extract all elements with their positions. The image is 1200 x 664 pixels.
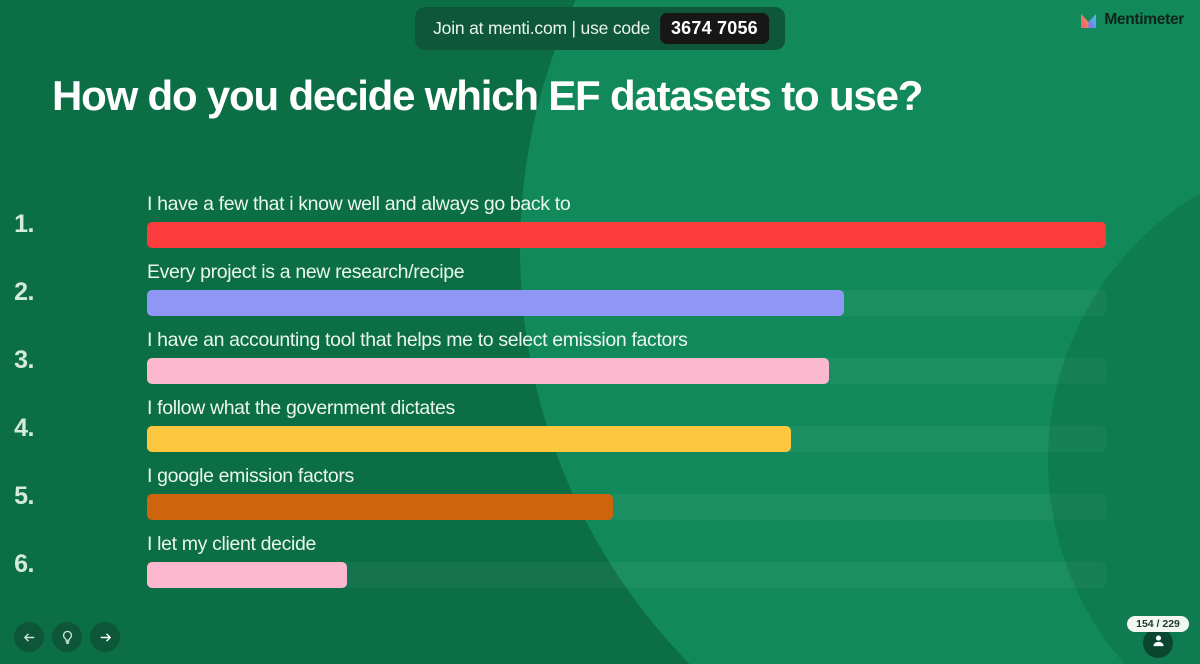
presentation-slide: Join at menti.com | use code 3674 7056	[0, 0, 1200, 664]
slide-navigation-controls	[14, 622, 120, 652]
answer-label: I let my client decide	[147, 533, 316, 556]
bar-track	[147, 494, 1106, 520]
brand-name: Mentimeter	[1104, 11, 1184, 29]
arrow-right-icon	[98, 630, 113, 645]
rank-number: 4.	[0, 414, 34, 443]
poll-results-list: 1. I have a few that i know well and alw…	[0, 186, 1200, 594]
join-code: 3674 7056	[660, 13, 769, 44]
answer-label: I have an accounting tool that helps me …	[147, 329, 688, 352]
result-row: 2. Every project is a new research/recip…	[0, 254, 1200, 322]
bar-fill	[147, 426, 791, 452]
join-instruction-text: Join at menti.com | use code	[433, 18, 650, 39]
answer-label: I follow what the government dictates	[147, 397, 455, 420]
rank-number: 2.	[0, 278, 34, 307]
ideas-button[interactable]	[52, 622, 82, 652]
bar-fill	[147, 222, 1106, 248]
participant-count-badge: 154 / 229	[1127, 616, 1189, 632]
rank-number: 3.	[0, 346, 34, 375]
result-row: 4. I follow what the government dictates	[0, 390, 1200, 458]
result-row: 5. I google emission factors	[0, 458, 1200, 526]
rank-number: 6.	[0, 550, 34, 579]
result-row: 3. I have an accounting tool that helps …	[0, 322, 1200, 390]
result-row: 1. I have a few that i know well and alw…	[0, 186, 1200, 254]
answer-label: I google emission factors	[147, 465, 354, 488]
result-row: 6. I let my client decide	[0, 526, 1200, 594]
bar-fill	[147, 562, 347, 588]
participant-avatar	[1143, 628, 1173, 658]
bar-track	[147, 222, 1106, 248]
person-icon	[1151, 633, 1166, 653]
participant-counter[interactable]: 154 / 229	[1130, 616, 1186, 658]
join-banner: Join at menti.com | use code 3674 7056	[415, 7, 785, 50]
bar-track	[147, 426, 1106, 452]
mentimeter-brand: Mentimeter	[1080, 11, 1184, 29]
answer-label: Every project is a new research/recipe	[147, 261, 464, 284]
bar-fill	[147, 290, 844, 316]
bar-track	[147, 358, 1106, 384]
bar-fill	[147, 494, 613, 520]
lightbulb-icon	[60, 630, 75, 645]
rank-number: 1.	[0, 210, 34, 239]
rank-number: 5.	[0, 482, 34, 511]
previous-slide-button[interactable]	[14, 622, 44, 652]
answer-label: I have a few that i know well and always…	[147, 193, 570, 216]
bar-track	[147, 562, 1106, 588]
bar-fill	[147, 358, 829, 384]
arrow-left-icon	[22, 630, 37, 645]
bar-track	[147, 290, 1106, 316]
next-slide-button[interactable]	[90, 622, 120, 652]
question-title: How do you decide which EF datasets to u…	[52, 72, 1052, 120]
mentimeter-logo-icon	[1080, 12, 1097, 29]
